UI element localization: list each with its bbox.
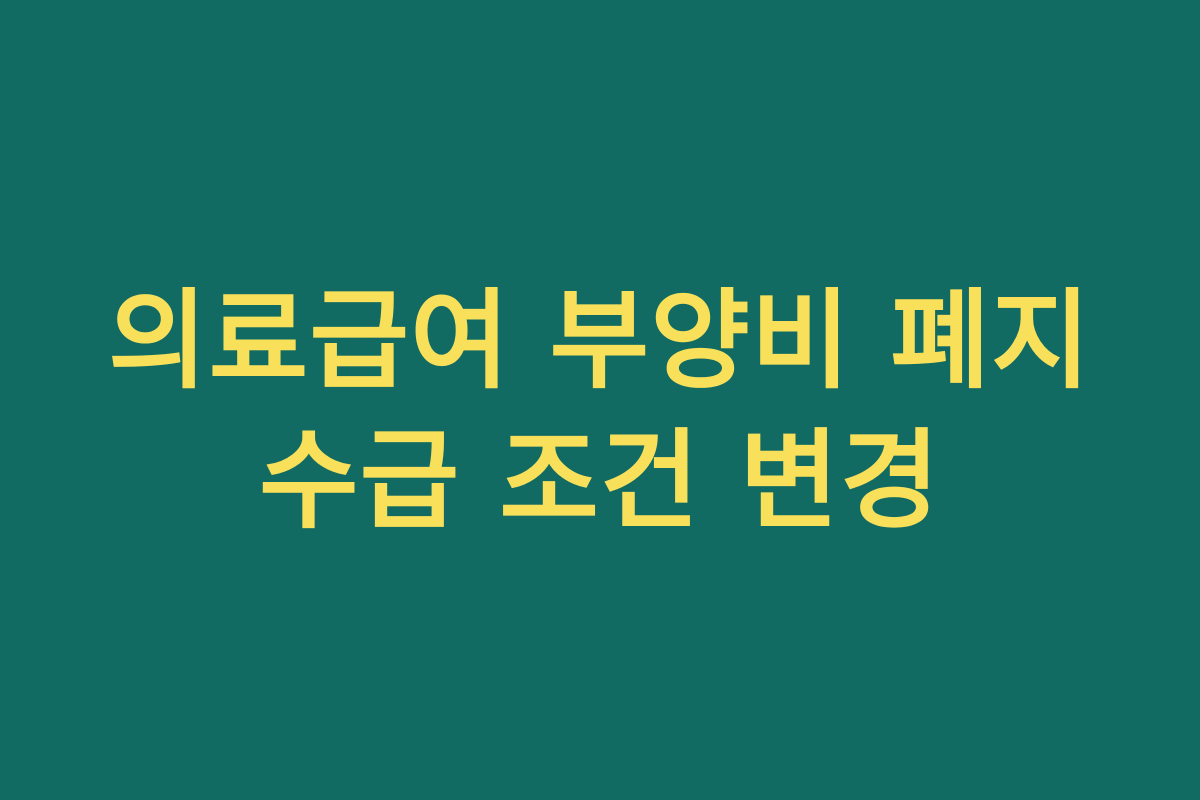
headline-title: 의료급여 부양비 폐지 수급 조건 변경 (80, 272, 1120, 553)
headline-block: 의료급여 부양비 폐지 수급 조건 변경 (80, 272, 1120, 553)
thumbnail-canvas: 의료급여 부양비 폐지 수급 조건 변경 (0, 0, 1200, 800)
